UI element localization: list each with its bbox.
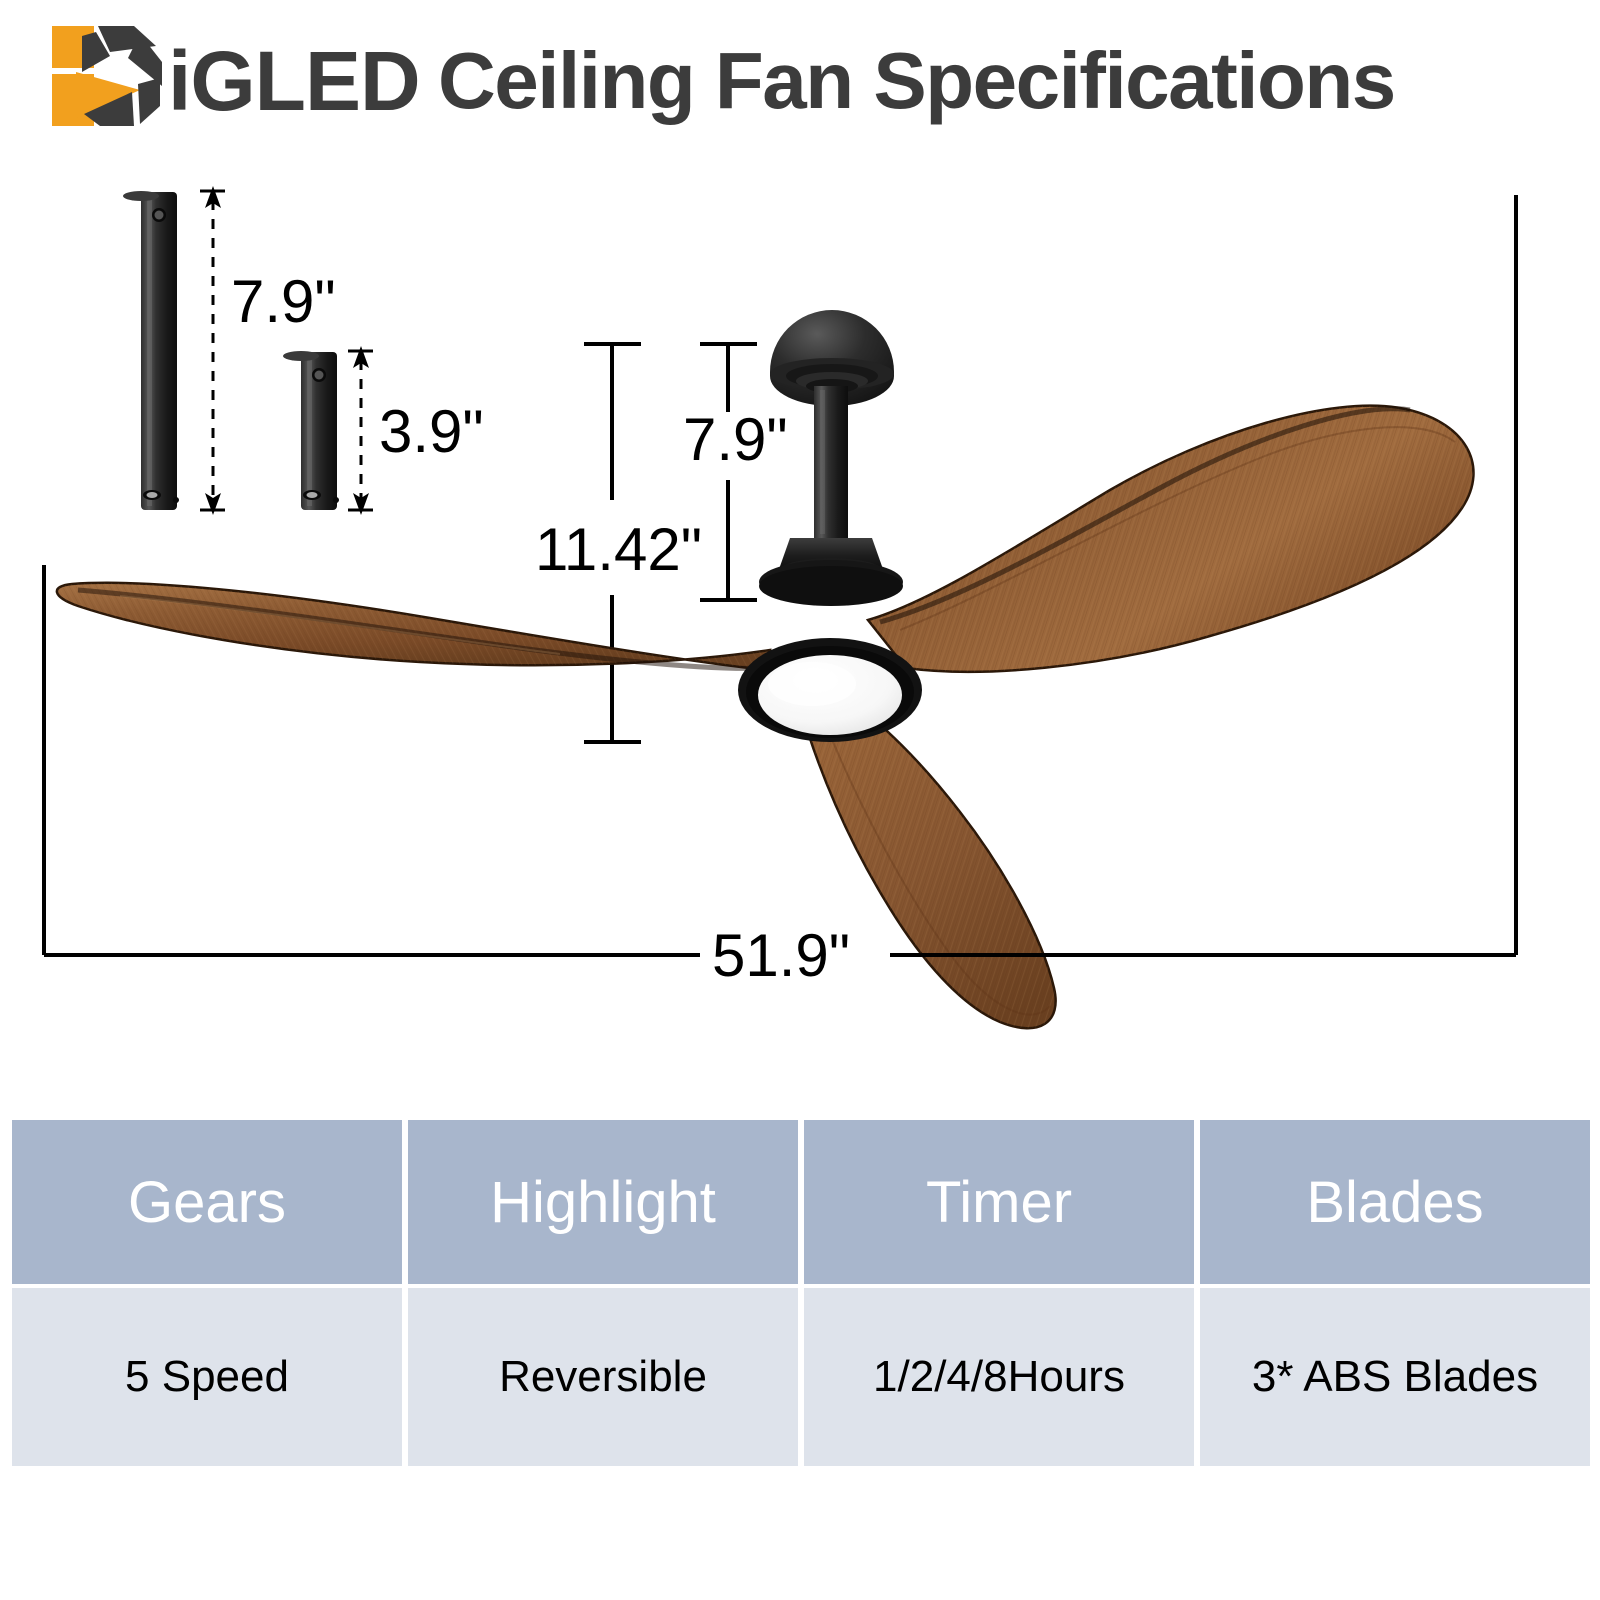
- table-cell-timer: 1/2/4/8Hours: [804, 1288, 1194, 1466]
- downrod-long-illustration: [123, 191, 179, 510]
- aperture-logo-icon: [48, 22, 168, 130]
- table-header-timer: Timer: [804, 1120, 1194, 1284]
- table-cell-gears: 5 Speed: [12, 1288, 402, 1466]
- table-cell-blades: 3* ABS Blades: [1200, 1288, 1590, 1466]
- fan-blade-upper-right: [868, 406, 1474, 672]
- dimension-downrod-short: [348, 351, 373, 510]
- table-header-blades: Blades: [1200, 1120, 1590, 1284]
- specifications-table: Gears Highlight Timer Blades 5 Speed Rev…: [12, 1120, 1590, 1466]
- table-header-highlight: Highlight: [408, 1120, 798, 1284]
- dimension-label-downrod-short: 3.9": [379, 398, 484, 465]
- dimension-label-rod-drop: 7.9": [683, 406, 788, 473]
- product-dimension-diagram: 7.9" 3.9" 11.42" 7.9": [0, 150, 1600, 1080]
- fan-blade-left: [57, 583, 770, 670]
- arrowhead-down: [205, 493, 221, 515]
- table-header-gears: Gears: [12, 1120, 402, 1284]
- motor-housing: [759, 538, 903, 606]
- page-header: iGLED Ceiling Fan Specifications: [0, 0, 1600, 150]
- brand-name: iGLED: [168, 32, 420, 130]
- dimension-downrod-long: [200, 191, 225, 510]
- page-title: Ceiling Fan Specifications: [438, 32, 1395, 130]
- dimension-label-overall-drop: 11.42": [535, 516, 702, 583]
- fan-downrod: [814, 386, 848, 538]
- dimension-label-blade-span: 51.9": [712, 922, 850, 989]
- downrod-short-illustration: [283, 351, 339, 510]
- led-light-kit: [738, 638, 922, 742]
- dimension-label-downrod-long: 7.9": [231, 268, 336, 335]
- table-cell-highlight: Reversible: [408, 1288, 798, 1466]
